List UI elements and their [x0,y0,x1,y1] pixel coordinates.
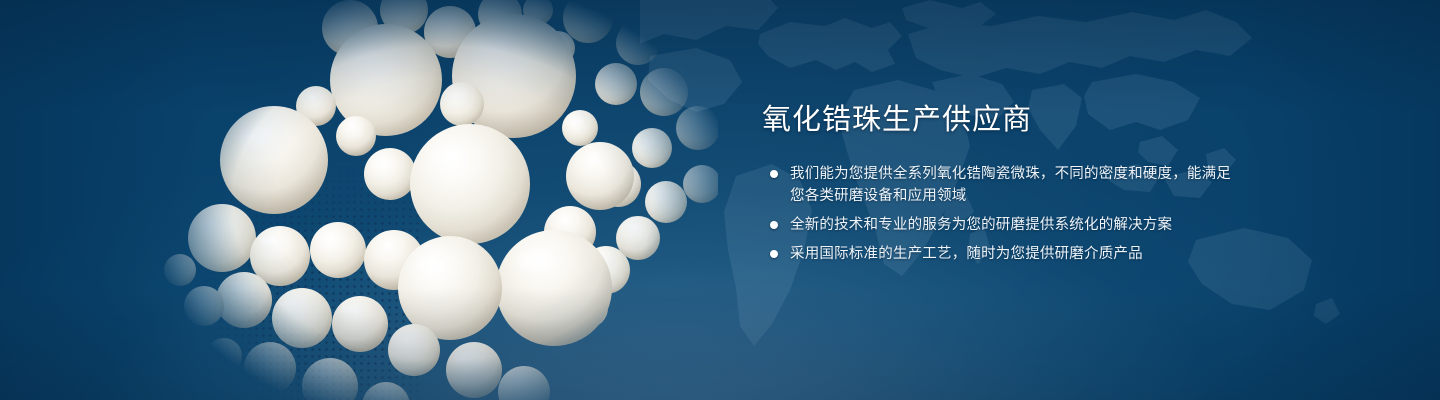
bullet-dot-icon [770,170,778,178]
feature-list: 我们能为您提供全系列氧化锆陶瓷微珠，不同的密度和硬度，能满足您各类研磨设备和应用… [762,163,1232,265]
banner-copy: 氧化锆珠生产供应商 我们能为您提供全系列氧化锆陶瓷微珠，不同的密度和硬度，能满足… [762,104,1232,265]
list-item-label: 全新的技术和专业的服务为您的研磨提供系统化的解决方案 [790,217,1172,233]
page-title: 氧化锆珠生产供应商 [762,104,1232,137]
list-item: 采用国际标准的生产工艺，随时为您提供研磨介质产品 [762,243,1232,265]
bullet-dot-icon [770,250,778,258]
list-item-label: 采用国际标准的生产工艺，随时为您提供研磨介质产品 [790,246,1143,262]
bullet-dot-icon [770,221,778,229]
list-item: 我们能为您提供全系列氧化锆陶瓷微珠，不同的密度和硬度，能满足您各类研磨设备和应用… [762,163,1232,207]
list-item-label: 我们能为您提供全系列氧化锆陶瓷微珠，不同的密度和硬度，能满足您各类研磨设备和应用… [790,166,1231,204]
hero-banner: 氧化锆珠生产供应商 我们能为您提供全系列氧化锆陶瓷微珠，不同的密度和硬度，能满足… [0,0,1440,400]
list-item: 全新的技术和专业的服务为您的研磨提供系统化的解决方案 [762,214,1232,236]
